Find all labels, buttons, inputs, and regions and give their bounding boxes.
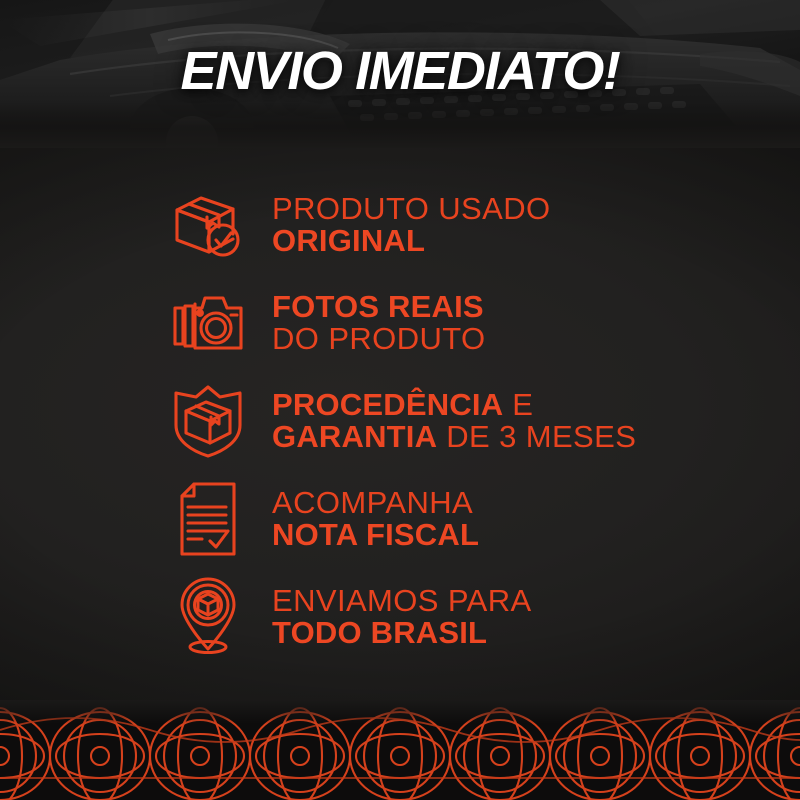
header-gradient-overlay [0,102,800,148]
feature-text: FOTOS REAIS DO PRODUTO [272,291,486,355]
feature-line-1: PROCEDÊNCIA E [272,389,636,421]
feature-line-2: TODO BRASIL [272,617,532,649]
feature-text: ACOMPANHA NOTA FISCAL [272,487,479,551]
feature-item-produto-usado-original: PRODUTO USADO ORIGINAL [0,176,800,274]
feature-line-1: PRODUTO USADO [272,193,551,225]
feature-item-fotos-reais: FOTOS REAIS DO PRODUTO [0,274,800,372]
feature-line-1: ENVIAMOS PARA [272,585,532,617]
feature-item-todo-brasil: ENVIAMOS PARA TODO BRASIL [0,568,800,666]
feature-item-procedencia-garantia: PROCEDÊNCIA E GARANTIA DE 3 MESES [0,372,800,470]
camera-icon [166,283,250,363]
feature-line-2: GARANTIA DE 3 MESES [272,421,636,453]
banner-header: ENVIO IMEDIATO! [0,0,800,148]
feature-list: PRODUTO USADO ORIGINAL FOTOS REAIS DO [0,148,800,708]
feature-text: ENVIAMOS PARA TODO BRASIL [272,585,532,649]
feature-item-nota-fiscal: ACOMPANHA NOTA FISCAL [0,470,800,568]
page-title: ENVIO IMEDIATO! [0,44,800,98]
decorative-pattern-border [0,700,800,800]
invoice-document-check-icon [166,479,250,559]
package-box-check-icon [166,185,250,265]
feature-line-2: DO PRODUTO [272,323,486,355]
feature-text: PROCEDÊNCIA E GARANTIA DE 3 MESES [272,389,636,453]
feature-line-2: NOTA FISCAL [272,519,479,551]
location-pin-box-icon [166,577,250,657]
feature-line-2: ORIGINAL [272,225,551,257]
feature-text: PRODUTO USADO ORIGINAL [272,193,551,257]
shield-box-icon [166,381,250,461]
feature-line-1: ACOMPANHA [272,487,479,519]
promo-banner: ENVIO IMEDIATO! PRODUTO USADO OR [0,0,800,800]
feature-line-1: FOTOS REAIS [272,291,486,323]
